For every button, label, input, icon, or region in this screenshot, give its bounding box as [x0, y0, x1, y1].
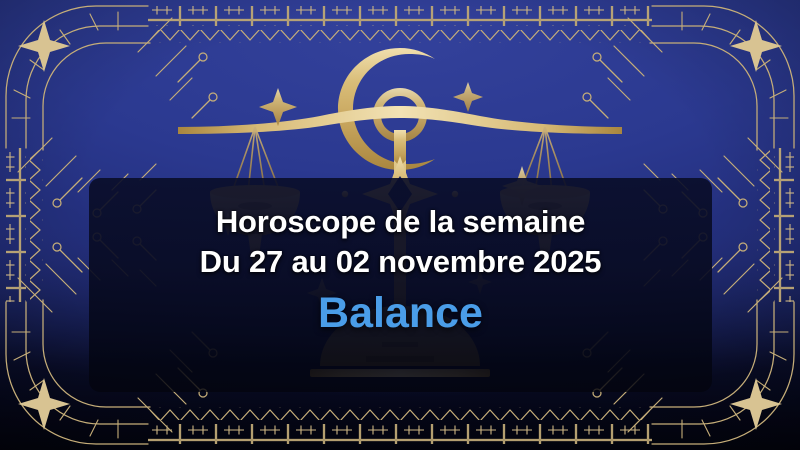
poster-title-line1: Horoscope de la semaine — [216, 202, 585, 242]
zodiac-sign-name: Balance — [318, 289, 483, 339]
poster-title-line2: Du 27 au 02 novembre 2025 — [200, 242, 602, 282]
horoscope-poster: Horoscope de la semaine Du 27 au 02 nove… — [0, 0, 800, 450]
text-overlay-panel: Horoscope de la semaine Du 27 au 02 nove… — [89, 178, 712, 392]
